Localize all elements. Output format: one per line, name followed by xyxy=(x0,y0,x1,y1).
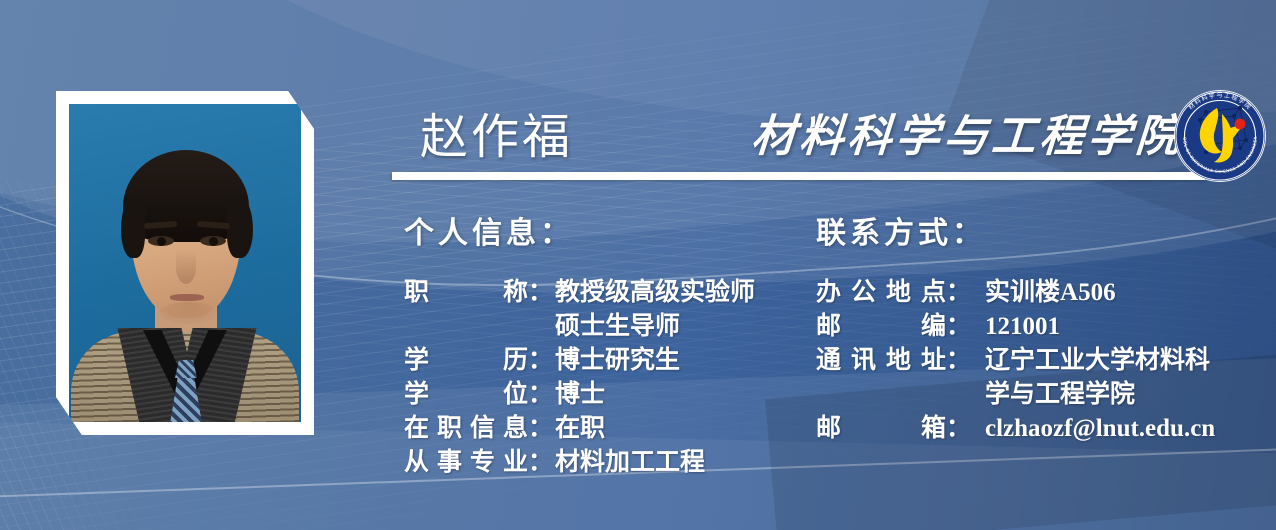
portrait-frame xyxy=(56,91,314,435)
info-row: 从事专业 ： 材料加工工程 xyxy=(404,446,804,480)
info-row: 职 称 ： 教授级高级实验师 xyxy=(404,276,804,310)
info-value: 教授级高级实验师 xyxy=(555,276,804,310)
contact-colon: ： xyxy=(946,276,971,310)
contact-value: 实训楼A506 xyxy=(973,276,1246,310)
contact-colon: ： xyxy=(946,412,971,446)
contact-label: 办公地点 xyxy=(816,276,946,310)
info-label: 学 历 xyxy=(404,344,528,378)
contact-value-email[interactable]: clzhaozf@lnut.edu.cn xyxy=(973,412,1246,446)
info-label: 学 位 xyxy=(404,378,528,412)
contact-value: 121001 xyxy=(973,310,1246,344)
contact-row-email: 邮 箱 ： clzhaozf@lnut.edu.cn xyxy=(816,412,1246,446)
info-label: 在职信息 xyxy=(404,412,528,446)
personal-info-rows: 职 称 ： 教授级高级实验师 职 称 ： 硕士生导师 学 历 ： 博士研究生 学… xyxy=(404,276,804,480)
contact-info-section: 联系方式： 办公地点 ： 实训楼A506 邮 编 ： 121001 通讯地址 ：… xyxy=(816,208,1246,446)
portrait-hair-left xyxy=(121,196,145,258)
header-divider xyxy=(392,172,1205,180)
info-colon: ： xyxy=(528,276,553,310)
portrait-pupil-right xyxy=(209,237,218,246)
contact-info-title: 联系方式： xyxy=(816,208,1246,252)
college-title: 材料科学与工程学院 xyxy=(750,100,1186,164)
info-row: 在职信息 ： 在职 xyxy=(404,412,804,446)
info-value: 在职 xyxy=(555,412,804,446)
info-colon: ： xyxy=(528,412,553,446)
info-colon: ： xyxy=(528,446,553,480)
contact-colon: ： xyxy=(946,344,971,378)
contact-label: 通讯地址 xyxy=(816,344,946,378)
info-colon: ： xyxy=(528,378,553,412)
portrait-chin xyxy=(159,302,217,324)
info-colon: ： xyxy=(528,344,553,378)
personal-info-section: 个人信息： 职 称 ： 教授级高级实验师 职 称 ： 硕士生导师 学 历 ： 博… xyxy=(404,208,804,480)
info-row: 职 称 ： 硕士生导师 xyxy=(404,310,804,344)
info-label: 职 称 xyxy=(404,276,528,310)
school-emblem-icon: 材料科学与工程学院 SCHOOL OF MATERIALS SCIENCE AN… xyxy=(1170,86,1270,186)
info-label: 从事专业 xyxy=(404,446,528,480)
portrait-pupil-left xyxy=(157,237,166,246)
contact-value: 学与工程学院 xyxy=(973,378,1246,412)
info-row: 学 历 ： 博士研究生 xyxy=(404,344,804,378)
info-value: 材料加工工程 xyxy=(555,446,804,480)
info-value: 硕士生导师 xyxy=(555,310,804,344)
profile-banner: 赵作福 材料科学与工程学院 xyxy=(0,0,1276,530)
contact-colon: ： xyxy=(946,310,971,344)
portrait-nose xyxy=(176,250,196,284)
contact-row-address-cont: 通讯地址 ： 学与工程学院 xyxy=(816,378,1246,412)
info-row: 学 位 ： 博士 xyxy=(404,378,804,412)
contact-info-rows: 办公地点 ： 实训楼A506 邮 编 ： 121001 通讯地址 ： 辽宁工业大… xyxy=(816,276,1246,446)
contact-label: 邮 编 xyxy=(816,310,946,344)
contact-row-address: 通讯地址 ： 辽宁工业大学材料科 xyxy=(816,344,1246,378)
contact-value: 辽宁工业大学材料科 xyxy=(973,344,1246,378)
person-name: 赵作福 xyxy=(420,97,573,167)
contact-row-office: 办公地点 ： 实训楼A506 xyxy=(816,276,1246,310)
contact-row-postcode: 邮 编 ： 121001 xyxy=(816,310,1246,344)
portrait-mouth xyxy=(170,294,204,301)
contact-label: 邮 箱 xyxy=(816,412,946,446)
info-value: 博士 xyxy=(555,378,804,412)
info-value: 博士研究生 xyxy=(555,344,804,378)
portrait-photo xyxy=(69,104,301,422)
personal-info-title: 个人信息： xyxy=(404,208,804,252)
